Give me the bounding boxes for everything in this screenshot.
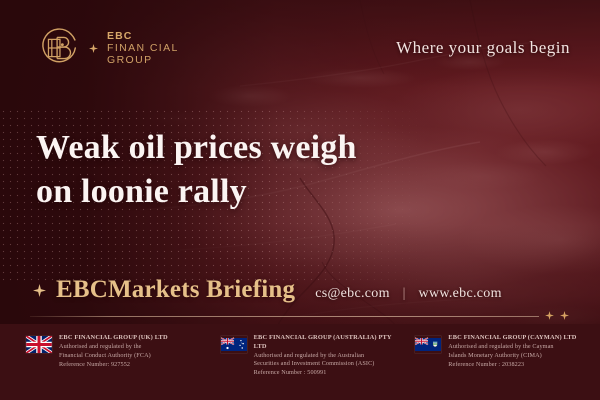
entity-line-2: Islands Monetary Authority (CIMA) xyxy=(448,352,576,360)
entity-line-2: Financial Conduct Authority (FCA) xyxy=(59,352,168,360)
sparkle-icon xyxy=(560,311,569,320)
poster-header: EBC FINAN CIAL GROUP Where your goals be… xyxy=(0,0,600,96)
brand-line-2: FINAN CIAL xyxy=(107,42,179,54)
brand-wordmark: EBC FINAN CIAL GROUP xyxy=(107,30,179,67)
ebc-monogram-icon xyxy=(36,25,82,71)
flag-united-kingdom-icon xyxy=(26,336,52,353)
brand-lockup: EBC FINAN CIAL GROUP xyxy=(36,25,179,71)
flag-cayman-islands-icon xyxy=(415,336,441,353)
contact-info: cs@ebc.com | www.ebc.com xyxy=(315,286,502,302)
entity-reference: Reference Number : 500991 xyxy=(254,369,398,377)
regulatory-footer: EBC FINANCIAL GROUP (UK) LTD Authorised … xyxy=(0,324,600,400)
briefing-row: EBCMarkets Briefing cs@ebc.com | www.ebc… xyxy=(33,276,502,304)
brand-line-3: GROUP xyxy=(107,54,179,66)
entity-line-2: Securities and Investment Commission (AS… xyxy=(254,360,398,368)
flag-australia-icon xyxy=(221,336,247,353)
sparkle-icon xyxy=(33,284,46,297)
entity-reference: Reference Number : 2038223 xyxy=(448,361,576,369)
entity-reference: Reference Number: 927552 xyxy=(59,361,168,369)
contact-email[interactable]: cs@ebc.com xyxy=(315,286,390,301)
regulatory-entity-australia: EBC FINANCIAL GROUP (AUSTRALIA) PTY LTD … xyxy=(203,334,398,378)
regulatory-text-cayman: EBC FINANCIAL GROUP (CAYMAN) LTD Authori… xyxy=(448,334,576,369)
brand-line-1: EBC xyxy=(107,30,179,42)
headline-line-2: on loonie rally xyxy=(36,170,456,214)
entity-name: EBC FINANCIAL GROUP (CAYMAN) LTD xyxy=(448,334,576,343)
marketing-poster: EBC FINAN CIAL GROUP Where your goals be… xyxy=(0,0,600,400)
contact-separator: | xyxy=(403,286,406,301)
sparkle-icon xyxy=(89,44,98,53)
entity-line-1: Authorised and regulated by the xyxy=(59,343,168,351)
entity-name: EBC FINANCIAL GROUP (UK) LTD xyxy=(59,334,168,343)
regulatory-text-uk: EBC FINANCIAL GROUP (UK) LTD Authorised … xyxy=(59,334,168,369)
divider-line xyxy=(30,316,539,317)
entity-line-1: Authorised and regulated by the Cayman xyxy=(448,343,576,351)
headline-line-1: Weak oil prices weigh xyxy=(36,126,456,170)
sparkle-icon xyxy=(545,311,554,320)
regulatory-entity-cayman: EBC FINANCIAL GROUP (CAYMAN) LTD Authori… xyxy=(397,334,592,369)
briefing-title: EBCMarkets Briefing xyxy=(56,276,295,304)
entity-line-1: Authorised and regulated by the Australi… xyxy=(254,352,398,360)
regulatory-text-australia: EBC FINANCIAL GROUP (AUSTRALIA) PTY LTD … xyxy=(254,334,398,378)
contact-website[interactable]: www.ebc.com xyxy=(419,286,502,301)
header-tagline: Where your goals begin xyxy=(396,38,570,58)
regulatory-entity-uk: EBC FINANCIAL GROUP (UK) LTD Authorised … xyxy=(8,334,203,369)
page-title: Weak oil prices weigh on loonie rally xyxy=(36,126,456,214)
entity-name: EBC FINANCIAL GROUP (AUSTRALIA) PTY LTD xyxy=(254,334,398,351)
